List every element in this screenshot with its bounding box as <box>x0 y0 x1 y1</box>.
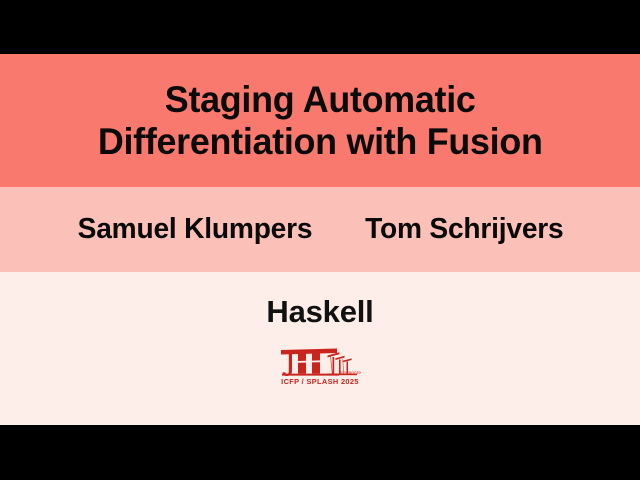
author-name-2: Tom Schrijvers <box>365 213 563 246</box>
title-band: Staging Automatic Differentiation with F… <box>0 54 640 187</box>
talk-title-line-2: Differentiation with Fusion <box>98 121 543 162</box>
authors-band: Samuel Klumpers Tom Schrijvers <box>0 187 640 272</box>
conference-logo: Singapore ICFP / SPLASH 2025 <box>274 347 366 385</box>
track-band: Haskell <box>0 272 640 425</box>
singapore-skyline-icon: Singapore <box>277 347 363 377</box>
letterbox-bar-bottom <box>0 425 640 480</box>
author-name-1: Samuel Klumpers <box>77 213 312 246</box>
title-card-slide: Staging Automatic Differentiation with F… <box>0 0 640 480</box>
letterbox-bar-top <box>0 0 640 54</box>
track-name: Haskell <box>266 294 373 330</box>
logo-conference-caption: ICFP / SPLASH 2025 <box>281 378 359 385</box>
logo-location-label: Singapore <box>339 371 361 376</box>
talk-title-line-1: Staging Automatic <box>165 79 476 120</box>
